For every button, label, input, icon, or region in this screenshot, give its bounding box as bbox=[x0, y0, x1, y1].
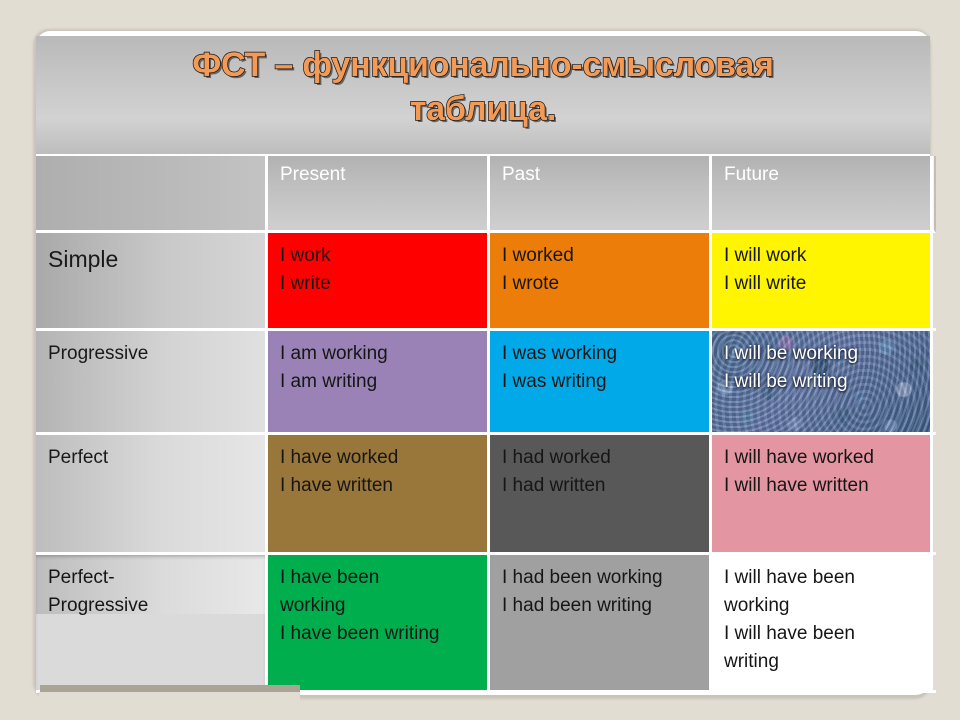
table-header-row: Present Past Future bbox=[36, 156, 936, 233]
table-row: Simple I work I write I worked I wrote I… bbox=[36, 233, 936, 331]
row-label-simple: Simple bbox=[36, 233, 268, 331]
row-tail bbox=[933, 435, 936, 555]
cell-simple-present: I work I write bbox=[268, 233, 490, 331]
cell-perfect-past: I had worked I had written bbox=[490, 435, 712, 555]
row-tail bbox=[933, 555, 936, 693]
cell-progressive-past: I was working I was writing bbox=[490, 331, 712, 435]
panel-bottom-shadow bbox=[40, 685, 300, 692]
row-tail bbox=[933, 233, 936, 331]
tense-table: Present Past Future Simple I work I writ… bbox=[36, 156, 936, 693]
row-label-perfect-progressive-text: Perfect- Progressive bbox=[36, 555, 265, 624]
cell-perfect-future: I will have worked I will have written bbox=[712, 435, 933, 555]
column-header-present: Present bbox=[268, 156, 490, 233]
table-row: Perfect I have worked I have written I h… bbox=[36, 435, 936, 555]
row-label-progressive: Progressive bbox=[36, 331, 268, 435]
row-label-perfect: Perfect bbox=[36, 435, 268, 555]
cell-perfect-past-text: I had worked I had written bbox=[490, 435, 709, 504]
table-header-tail bbox=[933, 156, 936, 233]
row-label-simple-text: Simple bbox=[36, 233, 265, 280]
table-row: Perfect- Progressive I have been working… bbox=[36, 555, 936, 693]
table-corner-cell bbox=[36, 156, 268, 233]
cell-progressive-present-text: I am working I am writing bbox=[268, 331, 487, 400]
cell-perfect-progressive-future-text: I will have been working I will have bee… bbox=[712, 555, 930, 680]
column-header-past: Past bbox=[490, 156, 712, 233]
cell-progressive-present: I am working I am writing bbox=[268, 331, 490, 435]
panel-bottom-fill bbox=[39, 692, 300, 706]
page-title: ФСТ – функционально-смысловая таблица. bbox=[36, 44, 930, 131]
cell-simple-future-text: I will work I will write bbox=[712, 233, 930, 302]
slide-root: ФСТ – функционально-смысловая таблица. P… bbox=[0, 0, 960, 720]
row-label-progressive-text: Progressive bbox=[36, 331, 265, 372]
cell-simple-past: I worked I wrote bbox=[490, 233, 712, 331]
cell-perfect-present: I have worked I have written bbox=[268, 435, 490, 555]
cell-perfect-progressive-present: I have been working I have been writing bbox=[268, 555, 490, 693]
cell-perfect-progressive-past: I had been working I had been writing bbox=[490, 555, 712, 693]
table-corner-label bbox=[36, 156, 265, 164]
cell-progressive-past-text: I was working I was writing bbox=[490, 331, 709, 400]
cell-perfect-progressive-present-text: I have been working I have been writing bbox=[268, 555, 487, 652]
table-row: Progressive I am working I am writing I … bbox=[36, 331, 936, 435]
cell-perfect-future-text: I will have worked I will have written bbox=[712, 435, 930, 504]
cell-perfect-progressive-past-text: I had been working I had been writing bbox=[490, 555, 709, 624]
column-header-future: Future bbox=[712, 156, 933, 233]
cell-simple-future: I will work I will write bbox=[712, 233, 933, 331]
cell-simple-past-text: I worked I wrote bbox=[490, 233, 709, 302]
cell-simple-present-text: I work I write bbox=[268, 233, 487, 302]
column-header-future-label: Future bbox=[712, 156, 930, 186]
cell-progressive-future-text: I will be working I will be writing bbox=[712, 331, 930, 400]
cell-perfect-progressive-future: I will have been working I will have bee… bbox=[712, 555, 933, 693]
row-label-perfect-text: Perfect bbox=[36, 435, 265, 476]
row-label-perfect-progressive: Perfect- Progressive bbox=[36, 555, 268, 693]
cell-perfect-present-text: I have worked I have written bbox=[268, 435, 487, 504]
column-header-present-label: Present bbox=[268, 156, 487, 186]
cell-progressive-future: I will be working I will be writing bbox=[712, 331, 933, 435]
row-tail bbox=[933, 331, 936, 435]
column-header-past-label: Past bbox=[490, 156, 709, 186]
